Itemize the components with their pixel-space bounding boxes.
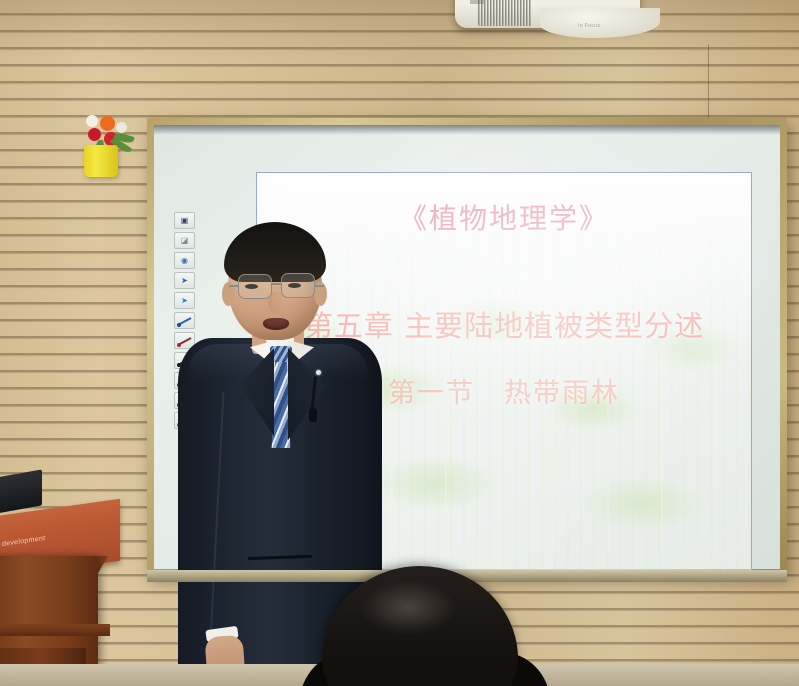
- slide-course-title: 《植物地理学》: [399, 197, 609, 237]
- yellow-wall-vase: [84, 145, 118, 177]
- eyeglasses-arm-right: [314, 285, 324, 287]
- eyeglasses-lens-left: [238, 274, 272, 299]
- flower-white-right: [116, 122, 127, 133]
- slide-section-heading: 第一节 热带雨林: [388, 371, 620, 410]
- eraser-icon[interactable]: ◪: [174, 232, 195, 249]
- projector-vent-grille: [478, 0, 532, 26]
- pointer-blue-icon-glyph: ➤: [181, 277, 188, 285]
- screen-capture-icon-glyph: ▣: [181, 217, 189, 225]
- lapel-pin-icon: [316, 370, 321, 375]
- pointer-arrow-icon-glyph: ➤: [181, 297, 188, 305]
- eraser-icon-glyph: ◪: [181, 237, 189, 245]
- screen-capture-icon[interactable]: ▣: [174, 212, 195, 229]
- eyeglasses-lens-right: [281, 273, 315, 298]
- projector-brand-label: In Focus: [578, 23, 600, 29]
- lapel-microphone-icon: [309, 408, 317, 422]
- eyeglasses-bridge: [272, 283, 282, 285]
- presenter-nose: [268, 292, 283, 314]
- spotlight-icon-glyph: ◉: [181, 257, 188, 265]
- flower-white-top: [86, 115, 98, 127]
- pen-red-icon-tip: [177, 343, 181, 347]
- pointer-blue-icon[interactable]: ➤: [174, 272, 195, 289]
- pen-blue-icon[interactable]: [174, 312, 195, 329]
- spotlight-icon[interactable]: ◉: [174, 252, 195, 269]
- eyeglasses-arm-left: [229, 285, 239, 287]
- presenter-mouth: [263, 318, 289, 330]
- classroom-scene: In Focus 《植物地理学》 第五章 主要陆地植被类型分述 第一节 热带雨林…: [0, 0, 799, 686]
- flower-orange: [100, 116, 115, 131]
- pen-blue-icon-tip: [177, 323, 181, 327]
- slide-chapter-heading: 第五章 主要陆地植被类型分述: [304, 303, 704, 345]
- pointer-arrow-icon[interactable]: ➤: [174, 292, 195, 309]
- podium-lip: [0, 624, 110, 636]
